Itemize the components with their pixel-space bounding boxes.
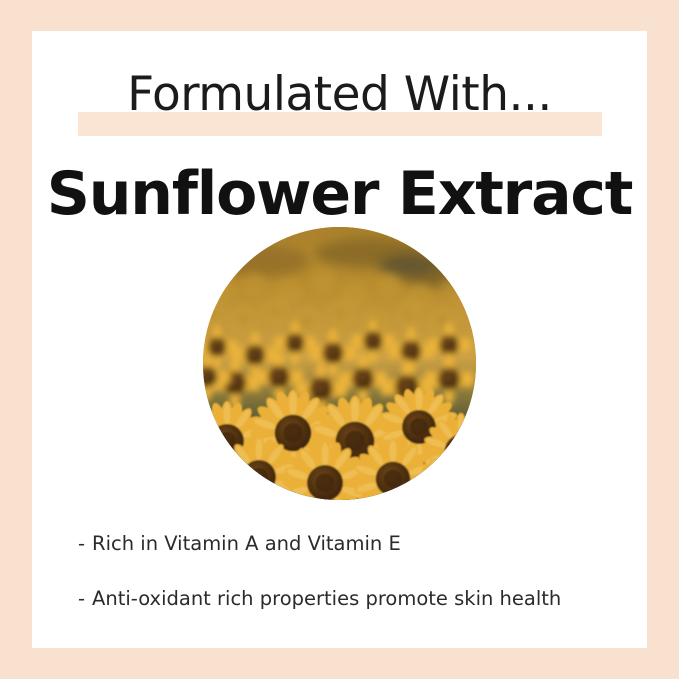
product-callout-card: Formulated With... Sunflower Extract	[0, 0, 679, 679]
list-item-label: Rich in Vitamin A and Vitamin E	[92, 531, 401, 557]
list-item: - Anti-oxidant rich properties promote s…	[78, 586, 638, 612]
sunflower-field-image	[203, 227, 476, 500]
bullet-dash: -	[78, 586, 85, 612]
card-inner-panel: Formulated With... Sunflower Extract	[32, 31, 647, 648]
list-item: - Rich in Vitamin A and Vitamin E	[78, 531, 638, 557]
kicker-block: Formulated With...	[32, 55, 647, 151]
list-item-label: Anti-oxidant rich properties promote ski…	[92, 586, 561, 612]
bullet-dash: -	[78, 531, 85, 557]
page-title: Sunflower Extract	[32, 163, 647, 225]
benefits-list: - Rich in Vitamin A and Vitamin E - Anti…	[78, 531, 638, 612]
kicker-label: Formulated With...	[32, 55, 647, 135]
